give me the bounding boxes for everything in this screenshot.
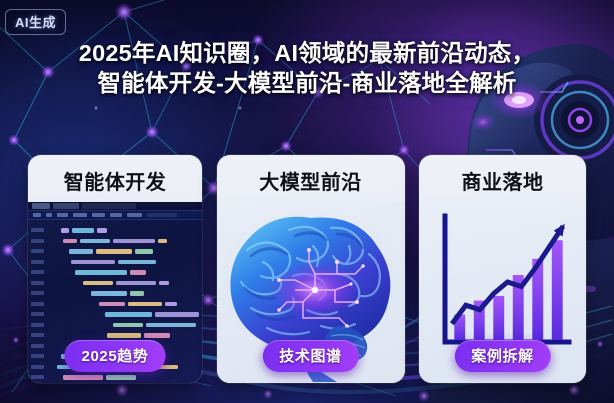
page-title: 2025年AI知识圈，AI领域的最新前沿动态， 智能体开发-大模型前沿-商业落地… (0, 38, 614, 98)
badge-agent-development[interactable]: 2025趋势 (65, 340, 166, 372)
card-title-agent-development: 智能体开发 (28, 155, 202, 202)
badge-commercial-landing[interactable]: 案例拆解 (454, 340, 550, 372)
card-agent-development[interactable]: 智能体开发 (28, 155, 202, 383)
poster-canvas: AI生成 2025年AI知识圈，AI领域的最新前沿动态， 智能体开发-大模型前沿… (0, 0, 614, 403)
page-title-line-2: 智能体开发-大模型前沿-商业落地全解析 (14, 68, 600, 98)
card-commercial-landing[interactable]: 商业落地 (419, 155, 586, 383)
chart-bar (552, 240, 563, 340)
ai-generated-watermark: AI生成 (5, 9, 66, 35)
trend-path (452, 226, 563, 323)
chart-bar (493, 296, 504, 340)
topic-card-row: 智能体开发 (0, 155, 614, 383)
card-title-commercial-landing: 商业落地 (419, 155, 586, 202)
chart-trend-line (452, 224, 565, 324)
card-title-large-model-frontier: 大模型前沿 (217, 155, 405, 202)
badge-large-model-frontier[interactable]: 技术图谱 (262, 340, 358, 372)
page-title-line-1: 2025年AI知识圈，AI领域的最新前沿动态， (14, 38, 600, 68)
card-large-model-frontier[interactable]: 大模型前沿 (217, 155, 405, 383)
